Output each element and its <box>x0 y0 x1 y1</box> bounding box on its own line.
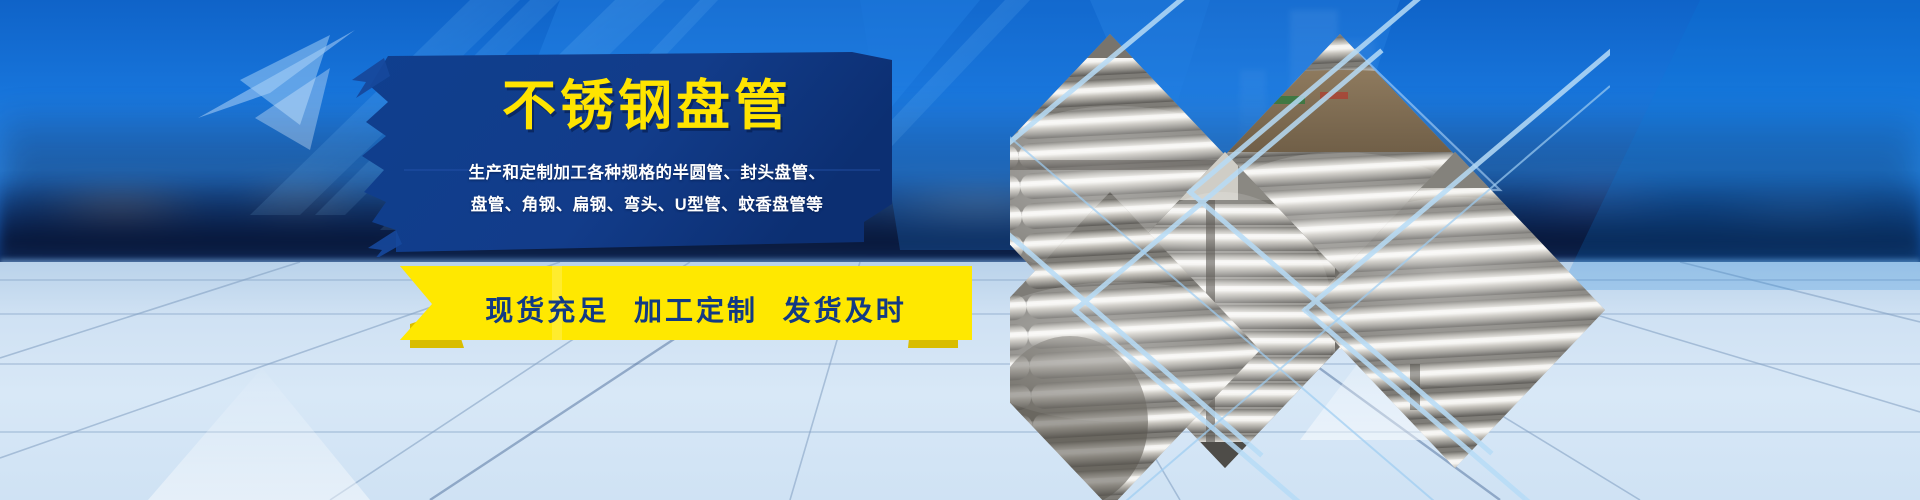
subtitle-line-2: 盘管、角钢、扁钢、弯头、U型管、蚊香盘管等 <box>412 189 882 221</box>
subtitle-line-1: 生产和定制加工各种规格的半圆管、封头盘管、 <box>412 157 882 189</box>
coil-pipe-photo-collage <box>1010 0 1610 500</box>
ribbon-item-3: 发货及时 <box>776 295 914 326</box>
subtitle-block: 生产和定制加工各种规格的半圆管、封头盘管、 盘管、角钢、扁钢、弯头、U型管、蚊香… <box>412 157 882 221</box>
ribbon-item-1: 现货充足 <box>478 295 616 326</box>
ribbon-item-2: 加工定制 <box>627 295 765 326</box>
headline-panel: 不锈钢盘管 生产和定制加工各种规格的半圆管、封头盘管、 盘管、角钢、扁钢、弯头、… <box>352 52 892 257</box>
hero-banner: 不锈钢盘管 生产和定制加工各种规格的半圆管、封头盘管、 盘管、角钢、扁钢、弯头、… <box>0 0 1920 500</box>
promo-ribbon-text: 现货充足 加工定制 发货及时 <box>352 289 1012 329</box>
page-title: 不锈钢盘管 <box>412 78 882 135</box>
promo-ribbon: 现货充足 加工定制 发货及时 <box>352 252 1012 372</box>
